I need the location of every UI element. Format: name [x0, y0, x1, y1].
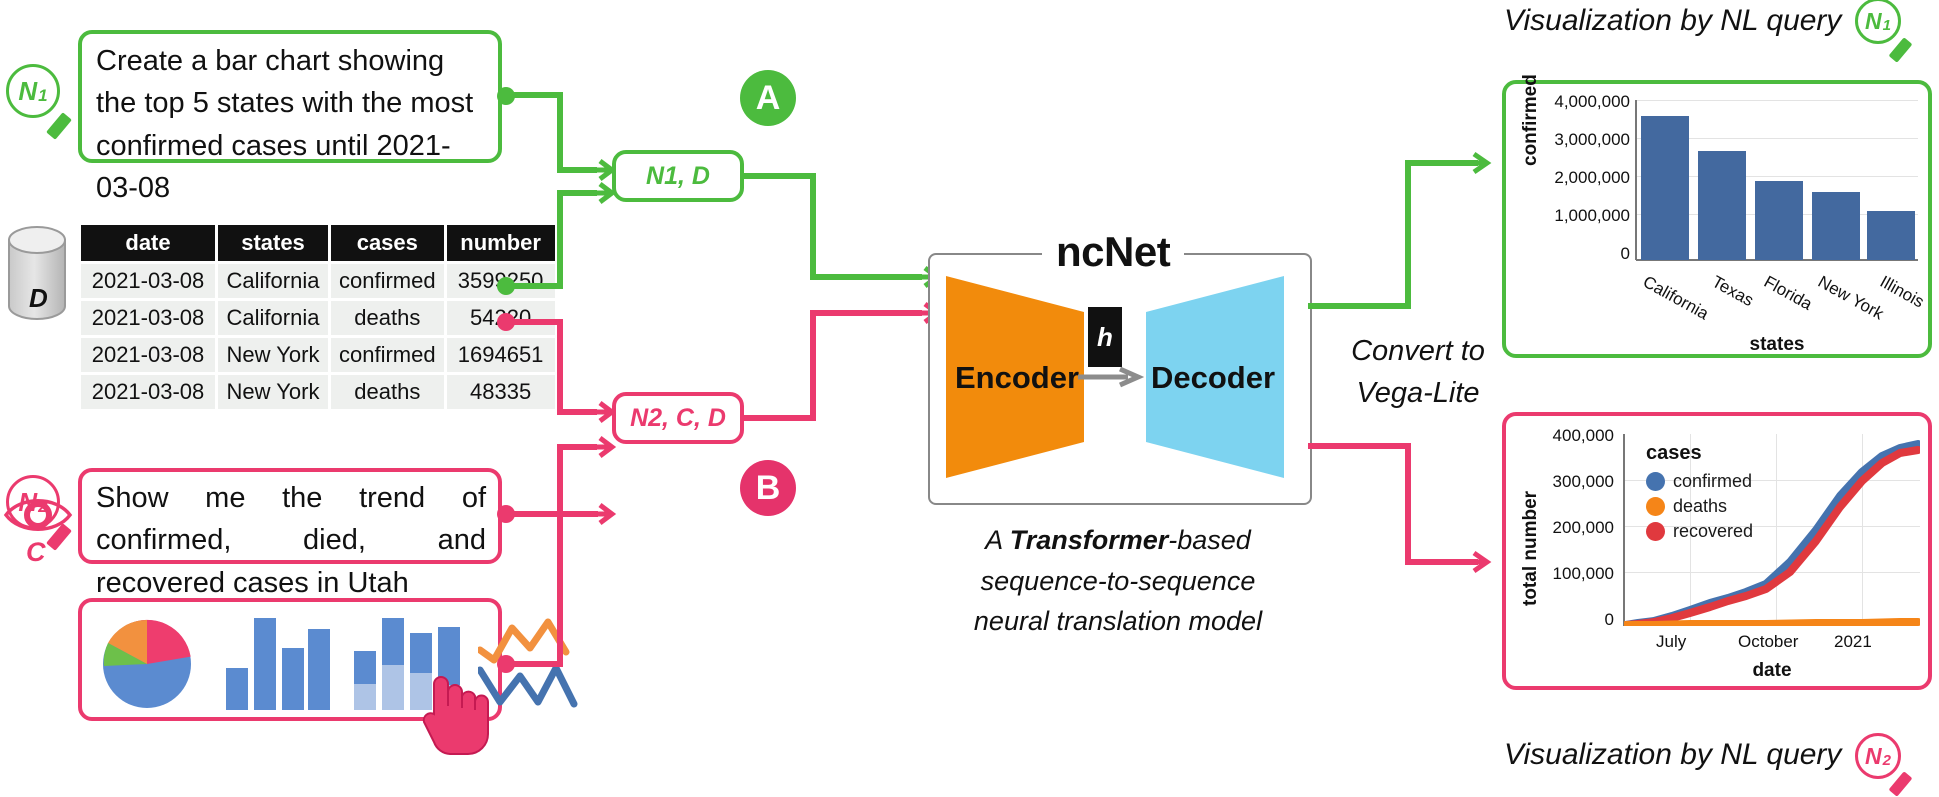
connector-n1-v1: [557, 92, 563, 173]
line-chart-xtick-october: October: [1738, 632, 1798, 652]
bar-chart-plot: [1636, 100, 1918, 260]
bar-chart-panel: confirmed 4,000,000 3,000,000 2,000,000 …: [1502, 80, 1932, 358]
bar-chart-xlabel: states: [1636, 334, 1918, 356]
legend-item-recovered: recovered: [1646, 521, 1753, 542]
cell-state: New York: [218, 338, 328, 372]
line-chart-ytick-0: 0: [1536, 610, 1614, 630]
connector-d-green-v1: [557, 190, 563, 289]
pie-chart-icon[interactable]: [100, 618, 194, 715]
nl-query-1-box[interactable]: Create a bar chart showing the top 5 sta…: [78, 30, 502, 163]
series-deaths-line: [1626, 622, 1918, 625]
line-chart-xtick-2021: 2021: [1834, 632, 1872, 652]
line-chart-ytick-3: 300,000: [1536, 472, 1614, 492]
line-chart-xlabel: date: [1624, 660, 1920, 682]
output-2-badge-sub: 2: [1883, 752, 1891, 769]
bar-california: [1641, 116, 1689, 260]
legend-label-confirmed: confirmed: [1673, 471, 1752, 492]
table-row: 2021-03-08 California deaths 54220: [81, 301, 555, 335]
bar-chart-ytick-1: 1,000,000: [1542, 206, 1630, 226]
bar-florida: [1755, 181, 1803, 260]
table-header-row: date states cases number: [81, 225, 555, 261]
output-1-badge-sub: 1: [1883, 17, 1891, 34]
badge-n1-letter: N: [18, 76, 37, 107]
hidden-state-label: h: [1097, 322, 1113, 353]
bar-chart-xtick-california: California: [1639, 272, 1712, 324]
bar-chart-ytick-3: 3,000,000: [1542, 130, 1630, 150]
connector-n2-h1: [506, 511, 598, 517]
data-table: date states cases number 2021-03-08 Cali…: [78, 222, 558, 412]
table-header-number: number: [447, 225, 555, 261]
cell-state: California: [218, 301, 328, 335]
step-b-out-v1: [810, 310, 816, 421]
cell-date: 2021-03-08: [81, 338, 215, 372]
bar-chart-xtick-florida: Florida: [1760, 272, 1815, 315]
cell-case: deaths: [331, 301, 444, 335]
legend-label-deaths: deaths: [1673, 496, 1727, 517]
caption-suffix: -based: [1168, 525, 1251, 555]
arrow-to-line-chart: [1464, 549, 1494, 580]
ncnet-out-green-h1: [1308, 303, 1411, 309]
legend-item-deaths: deaths: [1646, 496, 1753, 517]
line-chart-ytick-2: 200,000: [1536, 518, 1614, 538]
output-1-badge-handle: [1889, 37, 1913, 62]
nl-query-2-text: Show me the trend of confirmed, died, an…: [82, 472, 498, 604]
output-1-badge: N1: [1855, 0, 1901, 44]
step-a-box[interactable]: N1, D: [612, 150, 744, 202]
cell-case: confirmed: [331, 264, 444, 298]
cell-date: 2021-03-08: [81, 301, 215, 335]
model-caption-line2: sequence-to-sequence: [908, 561, 1328, 602]
bar-chart-ylabel: confirmed: [1520, 74, 1542, 166]
line-chart-plot: cases confirmed deaths recovered: [1624, 434, 1920, 626]
model-caption-line3: neural translation model: [908, 601, 1328, 642]
encoder-label: Encoder: [951, 360, 1083, 396]
caption-prefix: A: [985, 525, 1010, 555]
table-row: 2021-03-08 New York deaths 48335: [81, 375, 555, 409]
badge-n1: N1: [6, 64, 60, 118]
cell-number: 1694651: [447, 338, 555, 372]
bar-chart-ytick-4: 4,000,000: [1542, 92, 1630, 112]
legend-swatch-recovered: [1646, 522, 1665, 541]
chart-templates-label: C: [26, 537, 46, 568]
step-b-box[interactable]: N2, C, D: [612, 392, 744, 444]
line-chart-panel: total number 400,000 300,000 200,000 100…: [1502, 412, 1932, 690]
badge-n1-sub: 1: [38, 86, 47, 106]
connector-c-h1: [506, 661, 563, 667]
cell-state: California: [218, 264, 328, 298]
bar-chart-xtick-new-york: New York: [1814, 272, 1887, 324]
cell-case: deaths: [331, 375, 444, 409]
connector-c-v1: [557, 444, 563, 667]
caption-bold: Transformer: [1010, 525, 1169, 555]
convert-label: Convert to Vega-Lite: [1318, 330, 1518, 414]
connector-n1-h1: [506, 92, 563, 98]
line-chart-ytick-4: 400,000: [1536, 426, 1614, 446]
output-1-caption: Visualization by NL query: [1504, 4, 1841, 38]
cell-date: 2021-03-08: [81, 375, 215, 409]
step-b-out-h2: [810, 310, 922, 316]
arrow-n2-to-step-b: [590, 501, 618, 532]
convert-line2: Vega-Lite: [1318, 372, 1518, 414]
step-a-out-h1: [744, 173, 816, 179]
database-label: D: [29, 283, 48, 314]
encoder-to-decoder-arrow: [1078, 365, 1148, 394]
nl-query-2-box[interactable]: Show me the trend of confirmed, died, an…: [78, 468, 502, 564]
legend-label-recovered: recovered: [1673, 521, 1753, 542]
connector-d-pink-v1: [557, 319, 563, 415]
step-a-box-label: N1, D: [646, 162, 710, 191]
table-header-cases: cases: [331, 225, 444, 261]
legend-item-confirmed: confirmed: [1646, 471, 1753, 492]
table-row: 2021-03-08 California confirmed 3599250: [81, 264, 555, 298]
bar-chart-ytick-0: 0: [1542, 244, 1630, 264]
table-row: 2021-03-08 New York confirmed 1694651: [81, 338, 555, 372]
bar-chart-icon[interactable]: [224, 616, 330, 715]
connector-d-green-h1: [506, 283, 563, 289]
badge-n1-handle: [46, 112, 72, 140]
output-2-badge-letter: N: [1865, 743, 1882, 770]
connector-d-pink-h1: [506, 319, 563, 325]
legend-title: cases: [1646, 442, 1753, 465]
line-chart-legend: cases confirmed deaths recovered: [1646, 442, 1753, 542]
output-1-badge-letter: N: [1865, 8, 1882, 35]
cell-date: 2021-03-08: [81, 264, 215, 298]
model-caption: A Transformer-based sequence-to-sequence…: [908, 520, 1328, 642]
gridline: [1636, 100, 1918, 101]
step-b-box-label: N2, C, D: [630, 404, 726, 433]
bar-new-york: [1812, 192, 1860, 260]
line-chart-ytick-1: 100,000: [1536, 564, 1614, 584]
hidden-state-box: h: [1088, 307, 1122, 367]
ncnet-out-pink-v1: [1405, 443, 1411, 565]
hand-cursor-icon: [414, 660, 490, 765]
legend-swatch-deaths: [1646, 497, 1665, 516]
table-header-date: date: [81, 225, 215, 261]
line-chart-xtick-july: July: [1656, 632, 1686, 652]
ncnet-title: ncNet: [1042, 228, 1184, 276]
cell-number: 48335: [447, 375, 555, 409]
nl-query-1-text: Create a bar chart showing the top 5 sta…: [82, 34, 498, 209]
output-2-badge: N2: [1855, 733, 1901, 779]
step-marker-a: A: [740, 70, 796, 126]
arrow-c-to-step-b: [590, 434, 618, 465]
bar-chart-ytick-2: 2,000,000: [1542, 168, 1630, 188]
ncnet-out-green-v1: [1405, 160, 1411, 309]
step-marker-b: B: [740, 460, 796, 516]
bar-chart-yaxis-line: [1635, 100, 1637, 260]
step-b-out-h1: [744, 415, 816, 421]
arrow-to-bar-chart: [1464, 150, 1494, 181]
table-header-states: states: [218, 225, 328, 261]
line-chart-ylabel: total number: [1520, 491, 1542, 606]
step-a-out-v1: [810, 173, 816, 280]
bar-chart-xtick-texas: Texas: [1708, 272, 1757, 311]
model-caption-line1: A Transformer-based: [908, 520, 1328, 561]
step-marker-a-label: A: [756, 79, 781, 118]
cell-state: New York: [218, 375, 328, 409]
step-a-out-h2: [810, 274, 922, 280]
bar-illinois: [1867, 211, 1915, 260]
bar-texas: [1698, 151, 1746, 260]
cell-case: confirmed: [331, 338, 444, 372]
step-marker-b-label: B: [756, 469, 781, 508]
decoder-label: Decoder: [1146, 360, 1280, 396]
convert-line1: Convert to: [1318, 330, 1518, 372]
ncnet-out-pink-h1: [1308, 443, 1411, 449]
output-2-badge-handle: [1889, 771, 1913, 796]
output-2-caption: Visualization by NL query: [1504, 738, 1841, 772]
legend-swatch-confirmed: [1646, 472, 1665, 491]
